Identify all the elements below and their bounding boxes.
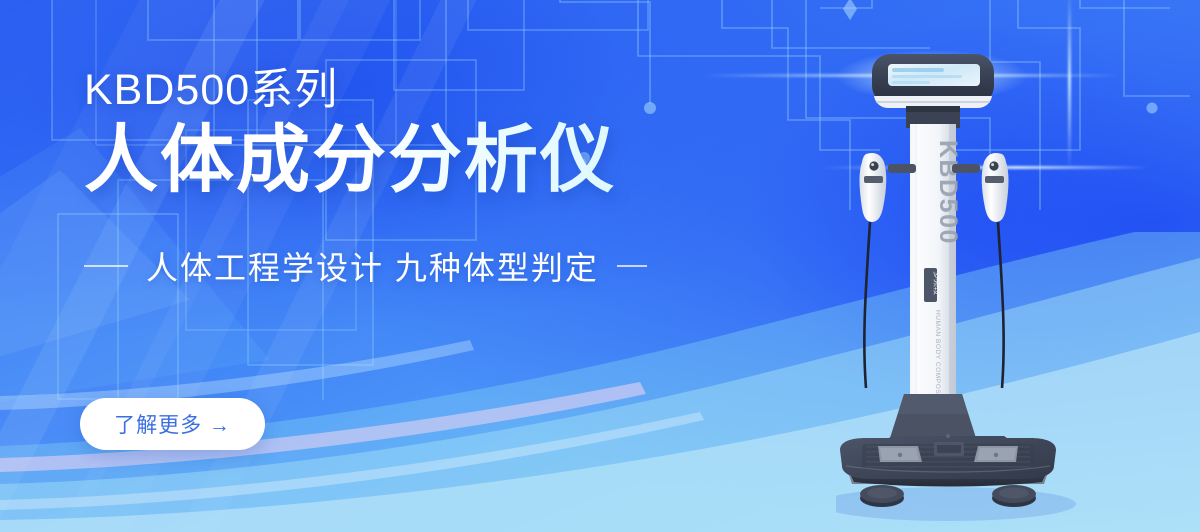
learn-more-button[interactable]: 了解更多 → (80, 398, 265, 450)
device-brand-text: KBD500 (934, 140, 962, 245)
eyebrow-text: KBD500系列 (84, 68, 704, 114)
left-hand-electrode (860, 153, 917, 222)
lcd-display-assembly (872, 54, 994, 128)
dash-left-decoration (84, 265, 128, 267)
subtitle-text: 人体工程学设计 九种体型判定 (146, 243, 599, 289)
promo-banner: KBD500 多频段 HUMAN BODY COMPOSITION ANALYZ… (0, 0, 1200, 532)
learn-more-label: 了解更多 → (114, 409, 231, 439)
dash-right-decoration (617, 265, 647, 267)
banner-copy: KBD500系列 人体成分分析仪 人体工程学设计 九种体型判定 (84, 68, 704, 289)
device-badge-text: 多频段 (933, 271, 943, 295)
subtitle-row: 人体工程学设计 九种体型判定 (84, 243, 704, 289)
foot-platform (836, 434, 1076, 521)
page-title: 人体成分分析仪 (84, 120, 704, 200)
product-image-body-composition-analyzer: KBD500 多频段 HUMAN BODY COMPOSITION ANALYZ… (836, 36, 1156, 532)
